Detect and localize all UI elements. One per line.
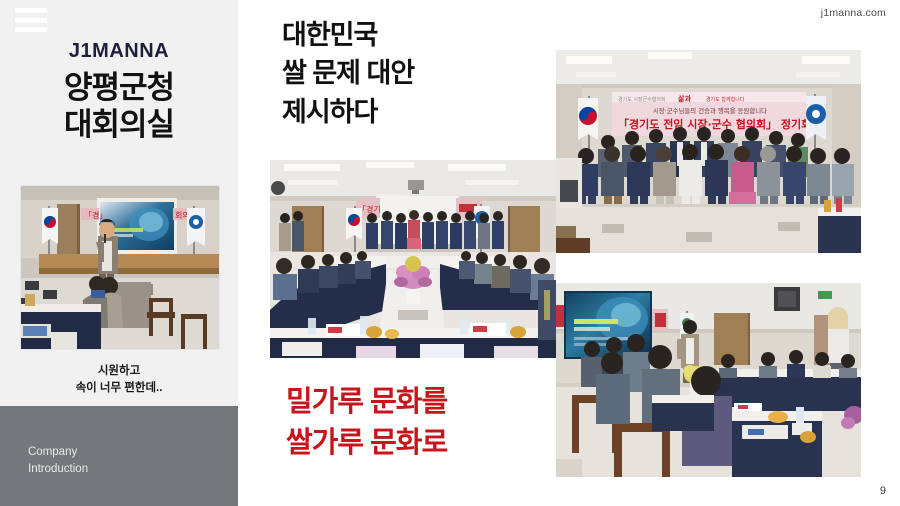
speaker-on-stage-illustration: 「경」 회의 [21, 186, 219, 349]
presentation-photo [556, 283, 861, 477]
footer-line-2: Introduction [28, 461, 208, 478]
slide: J1MANNA 양평군청 대회의실 [0, 0, 900, 506]
headline-line-2: 쌀 문제 대안 [282, 54, 414, 92]
sidebar-title-line-1: 양평군청 [0, 70, 238, 107]
hamburger-bar-1 [15, 8, 47, 13]
red-slogan-line-2: 쌀가루 문화로 [286, 423, 447, 464]
conference-room-photo: 「경기 [270, 160, 556, 358]
hamburger-bar-2 [15, 18, 47, 23]
sidebar-caption-line-2: 속이 너무 편한데.. [0, 380, 238, 397]
svg-text:「경」: 「경」 [84, 210, 107, 220]
hamburger-bar-3 [15, 27, 47, 32]
sidebar-title-line-2: 대회의실 [0, 107, 238, 144]
group-photo-illustration: 경기도 시장군수협의회 삶과 경기도 함께합니다 시장·군수님들의 건승과 행복… [556, 50, 861, 253]
presentation-illustration [556, 283, 861, 477]
svg-text:시장·군수님들의 건승과 행복을 응원합니다: 시장·군수님들의 건승과 행복을 응원합니다 [653, 106, 767, 115]
sidebar-title: 양평군청 대회의실 [0, 70, 238, 143]
sidebar: J1MANNA 양평군청 대회의실 [0, 0, 238, 506]
hamburger-icon[interactable] [15, 8, 47, 32]
speaker-on-stage-photo: 「경」 회의 [21, 186, 219, 349]
company-introduction-label: Company Introduction [28, 444, 208, 477]
group-photo: 경기도 시장군수협의회 삶과 경기도 함께합니다 시장·군수님들의 건승과 행복… [556, 50, 861, 253]
page-number: 9 [880, 485, 886, 497]
svg-text:경기도 함께합니다: 경기도 함께합니다 [706, 96, 745, 103]
svg-text:경기도 시장군수협의회: 경기도 시장군수협의회 [618, 96, 666, 103]
sidebar-caption: 시원하고 속이 너무 편한데.. [0, 363, 238, 396]
svg-text:「경기도 전임 시장·군수 협의회」 정기회의: 「경기도 전임 시장·군수 협의회」 정기회의 [618, 117, 821, 131]
svg-text:삶과: 삶과 [678, 94, 691, 103]
red-slogan: 밀가루 문화를 쌀가루 문화로 [286, 382, 447, 464]
footer-line-1: Company [28, 444, 208, 461]
sidebar-caption-line-1: 시원하고 [0, 363, 238, 380]
headline-line-3: 제시하다 [282, 93, 414, 131]
headline-line-1: 대한민국 [282, 16, 414, 54]
brand-logo-text: J1MANNA [0, 40, 238, 63]
headline: 대한민국 쌀 문제 대안 제시하다 [282, 16, 414, 131]
conference-room-illustration: 「경기 [270, 160, 556, 358]
watermark: j1manna.com [821, 7, 886, 19]
red-slogan-line-1: 밀가루 문화를 [286, 382, 447, 423]
